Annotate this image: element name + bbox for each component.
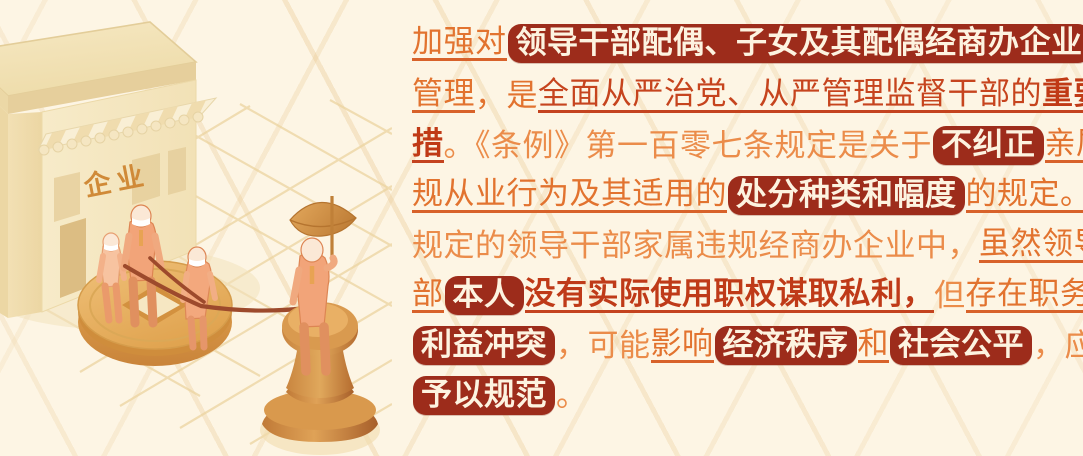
text-run: 管理 <box>412 78 475 113</box>
highlight-chip: 社会公平 <box>890 326 1032 365</box>
paragraph-text-block: 加强对领导干部配偶、子女及其配偶经商办企业 管理，是全面从严治党、从严管理监督干… <box>392 0 1083 456</box>
text-line: 予以规范。 <box>412 368 1075 418</box>
text-run: 亲属违 <box>1045 128 1083 163</box>
highlight-chip: 经济秩序 <box>715 326 857 365</box>
text-line: 部本人没有实际使用职权谋取私利，但存在职务上的 <box>412 268 1075 318</box>
text-run: 措 <box>412 128 444 163</box>
text-run: 。 <box>556 371 588 421</box>
text-run: ，应当 <box>1033 321 1083 371</box>
poster-canvas: 企业 <box>0 0 1083 456</box>
text-run: 规定的领导干部家属违规经商办企业中， <box>412 221 979 271</box>
text-run: 重要举 <box>1042 78 1083 113</box>
highlight-chip: 不纠正 <box>933 126 1044 165</box>
shop-wall-front <box>8 112 42 318</box>
text-run: 加强对 <box>412 26 507 61</box>
highlight-chip: 处分种类和幅度 <box>728 176 965 215</box>
shop-door <box>60 218 86 298</box>
text-run: 和 <box>858 328 890 363</box>
highlight-chip: 予以规范 <box>413 376 555 415</box>
text-line: 措。《条例》第一百零七条规定是关于不纠正亲属违 <box>412 118 1075 168</box>
text-run: 规从业行为及其适用的 <box>412 178 727 213</box>
text-run: ，可能 <box>556 321 651 371</box>
text-run: 虽然领导干 <box>979 228 1083 263</box>
highlight-chip: 领导干部配偶、子女及其配偶经商办企业 <box>508 24 1083 63</box>
text-run: 部 <box>412 278 444 313</box>
text-run: 全面从严治党、从严管理监督干部的 <box>538 78 1042 113</box>
text-run: 但 <box>934 271 966 321</box>
text-line: 规定的领导干部家属违规经商办企业中，虽然领导干 <box>412 218 1075 268</box>
text-line: 利益冲突，可能影响经济秩序和社会公平，应当 <box>412 318 1075 368</box>
text-run: 没有实际使用职权谋取私利， <box>525 278 935 313</box>
text-run: 影响 <box>651 328 714 363</box>
highlight-chip: 本人 <box>445 276 524 315</box>
text-line: 加强对领导干部配偶、子女及其配偶经商办企业 <box>412 14 1075 68</box>
highlight-chip: 利益冲突 <box>413 326 555 365</box>
illustration-isometric-enterprise-scene: 企业 <box>0 0 392 456</box>
text-run: ，是 <box>475 71 538 121</box>
text-run: 的规定。 <box>966 178 1083 213</box>
text-line: 规从业行为及其适用的处分种类和幅度的规定。本条 <box>412 168 1075 218</box>
text-line: 管理，是全面从严治党、从严管理监督干部的重要举 <box>412 68 1075 118</box>
text-run: 存在职务上的 <box>966 278 1083 313</box>
umbrella-canopy <box>290 202 356 236</box>
text-run: 。《条例》第一百零七条规定是关于 <box>444 121 933 171</box>
